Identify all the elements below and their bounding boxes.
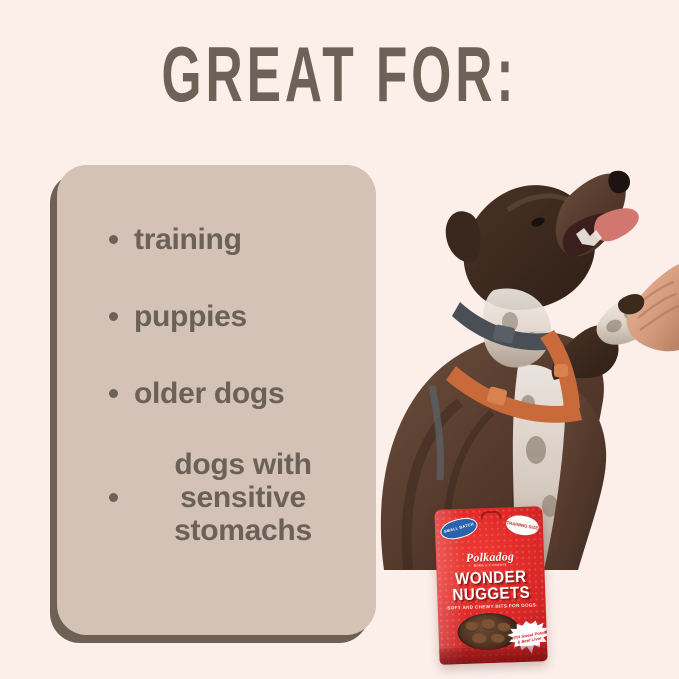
list-item: training	[57, 223, 376, 256]
package-badge-right-label: TRAINING SIZE	[506, 520, 539, 531]
list-item-label: dogs with sensitive stomachs	[134, 448, 352, 547]
list-item: puppies	[57, 300, 376, 333]
package-hang-hole	[480, 511, 501, 520]
package-bottom-gusset	[439, 645, 547, 665]
product-package: SMALL BATCH TRAINING SIZE Polkadog Baker…	[437, 508, 545, 663]
dog-ear	[446, 211, 481, 262]
list-item-label: older dogs	[134, 377, 284, 410]
benefits-list: training puppies older dogs dogs with se…	[57, 165, 376, 635]
list-item-label: puppies	[134, 300, 247, 333]
package-bag: SMALL BATCH TRAINING SIZE Polkadog Baker…	[434, 506, 547, 665]
dog-nose	[608, 171, 630, 194]
bullet-icon	[109, 312, 118, 321]
promo-image: GREAT FOR: training puppies older dogs d…	[0, 0, 679, 679]
package-badge-left-label: SMALL BATCH	[444, 522, 475, 534]
list-item-label: training	[134, 223, 242, 256]
benefits-card: training puppies older dogs dogs with se…	[57, 165, 376, 635]
page-title: GREAT FOR:	[115, 36, 563, 112]
bullet-icon	[109, 235, 118, 244]
list-item: dogs with sensitive stomachs	[57, 448, 376, 547]
bullet-icon	[109, 389, 118, 398]
list-item: older dogs	[57, 377, 376, 410]
bullet-icon	[109, 493, 118, 502]
